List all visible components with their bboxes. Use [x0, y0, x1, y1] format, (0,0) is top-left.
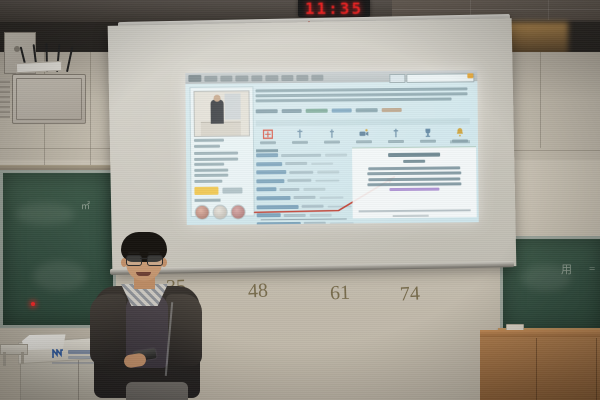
wall-panel-line [512, 150, 600, 151]
overlay-subheading [403, 159, 425, 162]
list-item-highlighted[interactable] [257, 220, 407, 225]
overlay-date-line [389, 188, 439, 192]
tag-suggestions[interactable] [356, 108, 378, 112]
bell-icon [455, 127, 465, 137]
profile-field [194, 174, 228, 177]
site-nav-bar[interactable] [185, 70, 477, 84]
trophy-icon [423, 128, 433, 138]
nav-item-interaction[interactable] [296, 74, 308, 80]
intro-line [255, 87, 467, 92]
digital-wall-clock: 11:35 [298, 0, 370, 17]
jacket-left-shoulder [90, 294, 126, 364]
wall-panel-line [90, 52, 91, 172]
overlay-text-panel [352, 146, 477, 218]
tag-contact[interactable] [332, 108, 352, 112]
cabinet-seam [536, 338, 537, 400]
handwritten-number: 61 [330, 282, 351, 306]
nav-item-disclosure[interactable] [265, 75, 278, 81]
quick-link-announcements[interactable] [448, 127, 472, 147]
profile-field [194, 157, 238, 160]
overlay-footnote-tail [393, 214, 429, 216]
cabinet-seam [596, 338, 597, 400]
wall-panel-line [540, 52, 541, 148]
search-input[interactable] [406, 73, 474, 83]
camera-icon [359, 128, 369, 138]
quick-link-online-handling[interactable] [320, 129, 344, 149]
section-header-bar [256, 118, 470, 126]
handwritten-number: 48 [247, 279, 268, 303]
chalk-mark: = [589, 263, 595, 275]
overlay-body-line [368, 177, 460, 181]
clipboard-icon [391, 128, 401, 138]
tag-more[interactable] [382, 108, 402, 112]
projected-webpage [185, 70, 478, 225]
search-button[interactable] [467, 73, 473, 78]
quick-link-video[interactable] [352, 128, 376, 148]
wall-vent [0, 78, 10, 118]
overlay-heading [388, 153, 440, 157]
ceiling-seam [392, 9, 600, 10]
profile-field [194, 163, 224, 166]
site-logo[interactable] [188, 75, 201, 82]
mouth [136, 272, 151, 276]
nav-item-news[interactable] [220, 75, 232, 81]
quick-link-feedback[interactable] [416, 128, 440, 148]
chalk-mark: 用 [561, 261, 572, 277]
cabinet-top [480, 330, 600, 337]
glasses-bridge [140, 258, 147, 259]
laser-pointer-dot [31, 302, 35, 306]
profile-primary-button[interactable] [194, 187, 218, 195]
tag-updates[interactable] [306, 109, 328, 113]
handwritten-number: 74 [399, 282, 420, 306]
nav-item-home[interactable] [204, 75, 217, 81]
profile-more-button[interactable] [222, 187, 242, 193]
table-leg [3, 352, 6, 366]
profile-field [194, 179, 222, 182]
table-leg [21, 352, 24, 364]
screenshot-root: 11:35 ㎡ 用 = [0, 0, 600, 400]
clock-time: 11:35 [305, 0, 363, 17]
profile-photo [193, 90, 249, 137]
avatar[interactable] [231, 204, 246, 219]
tag-duties[interactable] [282, 109, 302, 113]
calendar-icon [263, 129, 273, 139]
university-logo-icon [52, 348, 64, 360]
intro-line [256, 92, 468, 97]
lectern-door-seam [78, 360, 79, 400]
quick-link-gov-service[interactable] [288, 129, 312, 149]
profile-name [194, 139, 224, 142]
eyebrow [148, 252, 160, 254]
jammer-panel [16, 78, 82, 120]
quick-link-worktable[interactable] [256, 129, 280, 149]
document-icon [295, 129, 305, 139]
glasses-icon [147, 255, 163, 266]
nav-item-affairs[interactable] [235, 75, 248, 81]
avatar[interactable] [213, 205, 228, 220]
profile-field [194, 168, 228, 171]
overlay-footnote [359, 209, 471, 212]
presenter [88, 232, 206, 400]
glasses-icon [126, 255, 142, 266]
related-people-label [195, 199, 221, 202]
avatar[interactable] [195, 205, 210, 220]
chalk-mark: ㎡ [81, 199, 90, 212]
pen-icon [327, 129, 337, 139]
overlay-corner-note [450, 140, 470, 143]
overlay-body-line [368, 166, 460, 170]
tag-profile[interactable] [256, 109, 278, 113]
ceiling-seam [548, 0, 549, 20]
overlay-body-line [367, 172, 461, 176]
profile-field [194, 152, 238, 155]
profile-org [194, 145, 220, 148]
nav-item-services[interactable] [281, 74, 293, 80]
eyebrow [128, 252, 140, 254]
overlay-body-line [367, 182, 461, 186]
trousers [126, 382, 188, 400]
wooden-cabinet[interactable] [480, 334, 600, 400]
nav-item-documents[interactable] [251, 75, 262, 81]
nav-item-topics[interactable] [311, 74, 323, 80]
wall-panel-line [0, 148, 110, 149]
quick-link-public-participation[interactable] [384, 128, 408, 148]
intro-line [256, 97, 452, 101]
search-scope-select[interactable] [389, 73, 405, 82]
